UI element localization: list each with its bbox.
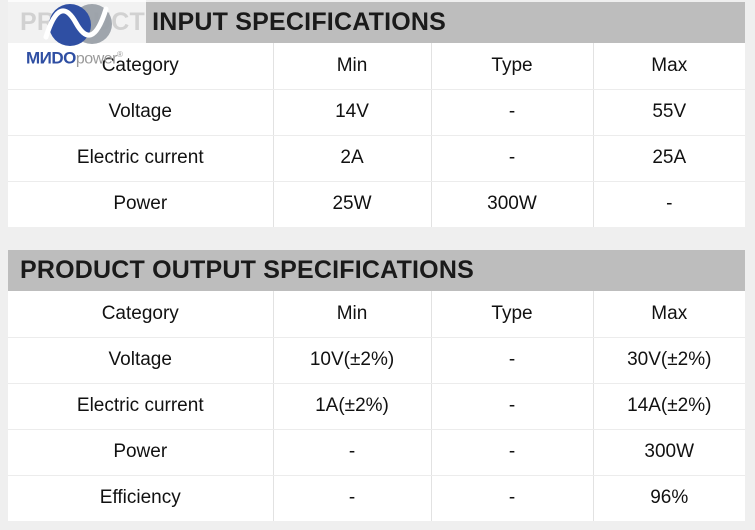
input-specifications-block: PRODUCT INPUT SPECIFICATIONS Category Mi… bbox=[8, 2, 745, 227]
table-row: Power 25W 300W - bbox=[8, 181, 745, 227]
cell-category: Voltage bbox=[8, 89, 273, 135]
column-header-min: Min bbox=[273, 43, 431, 89]
cell-min: 2A bbox=[273, 135, 431, 181]
column-header-max: Max bbox=[593, 291, 745, 337]
column-header-category: Category bbox=[8, 291, 273, 337]
table-header-row: Category Min Type Max bbox=[8, 43, 745, 89]
cell-category: Efficiency bbox=[8, 475, 273, 521]
column-header-min: Min bbox=[273, 291, 431, 337]
cell-max: 300W bbox=[593, 429, 745, 475]
cell-min: 14V bbox=[273, 89, 431, 135]
output-specifications-table: Category Min Type Max Voltage 10V(±2%) -… bbox=[8, 291, 745, 521]
cell-max: 25A bbox=[593, 135, 745, 181]
table-row: Voltage 10V(±2%) - 30V(±2%) bbox=[8, 337, 745, 383]
cell-max: 14A(±2%) bbox=[593, 383, 745, 429]
output-specifications-title: PRODUCT OUTPUT SPECIFICATIONS bbox=[8, 250, 745, 291]
cell-type: - bbox=[431, 135, 593, 181]
column-header-max: Max bbox=[593, 43, 745, 89]
table-row: Voltage 14V - 55V bbox=[8, 89, 745, 135]
cell-min: - bbox=[273, 475, 431, 521]
cell-max: 55V bbox=[593, 89, 745, 135]
cell-category: Electric current bbox=[8, 383, 273, 429]
cell-type: 300W bbox=[431, 181, 593, 227]
cell-max: 30V(±2%) bbox=[593, 337, 745, 383]
cell-type: - bbox=[431, 429, 593, 475]
cell-type: - bbox=[431, 337, 593, 383]
table-row: Efficiency - - 96% bbox=[8, 475, 745, 521]
input-specifications-table: Category Min Type Max Voltage 14V - 55V … bbox=[8, 43, 745, 227]
spec-sheet-page: PRODUCT INPUT SPECIFICATIONS Category Mi… bbox=[0, 0, 755, 530]
cell-type: - bbox=[431, 475, 593, 521]
table-row: Power - - 300W bbox=[8, 429, 745, 475]
cell-category: Voltage bbox=[8, 337, 273, 383]
column-header-category: Category bbox=[8, 43, 273, 89]
cell-category: Power bbox=[8, 181, 273, 227]
cell-min: 1A(±2%) bbox=[273, 383, 431, 429]
input-specifications-title: PRODUCT INPUT SPECIFICATIONS bbox=[8, 2, 745, 43]
table-row: Electric current 1A(±2%) - 14A(±2%) bbox=[8, 383, 745, 429]
cell-category: Power bbox=[8, 429, 273, 475]
cell-min: - bbox=[273, 429, 431, 475]
cell-type: - bbox=[431, 89, 593, 135]
output-specifications-block: PRODUCT OUTPUT SPECIFICATIONS Category M… bbox=[8, 250, 745, 521]
cell-max: 96% bbox=[593, 475, 745, 521]
column-header-type: Type bbox=[431, 291, 593, 337]
cell-min: 25W bbox=[273, 181, 431, 227]
cell-category: Electric current bbox=[8, 135, 273, 181]
column-header-type: Type bbox=[431, 43, 593, 89]
cell-max: - bbox=[593, 181, 745, 227]
cell-type: - bbox=[431, 383, 593, 429]
cell-min: 10V(±2%) bbox=[273, 337, 431, 383]
table-row: Electric current 2A - 25A bbox=[8, 135, 745, 181]
table-header-row: Category Min Type Max bbox=[8, 291, 745, 337]
